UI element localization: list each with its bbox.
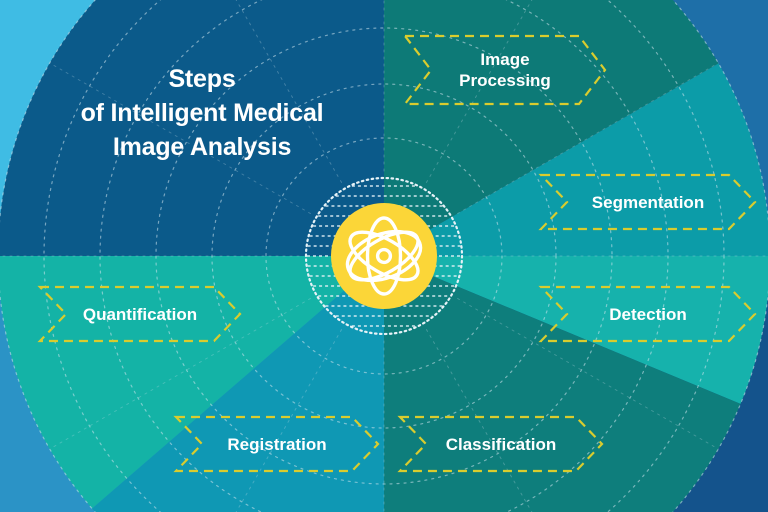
infographic-canvas: Steps of Intelligent Medical Image Analy…: [0, 0, 768, 512]
step-chevron-segmentation[interactable]: Segmentation: [537, 172, 759, 232]
step-chevron-image-processing[interactable]: Image Processing: [401, 33, 609, 107]
step-label: Quantification: [77, 304, 203, 325]
step-chevron-detection[interactable]: Detection: [537, 284, 759, 344]
step-label: Segmentation: [586, 192, 710, 213]
step-chevron-quantification[interactable]: Quantification: [36, 284, 244, 344]
step-chevron-classification[interactable]: Classification: [396, 414, 606, 474]
step-label: Detection: [603, 304, 692, 325]
diagram-graphics: [0, 0, 768, 512]
step-label: Registration: [221, 434, 332, 455]
step-chevron-registration[interactable]: Registration: [172, 414, 382, 474]
step-label: Classification: [440, 434, 563, 455]
step-label: Image Processing: [453, 49, 557, 91]
